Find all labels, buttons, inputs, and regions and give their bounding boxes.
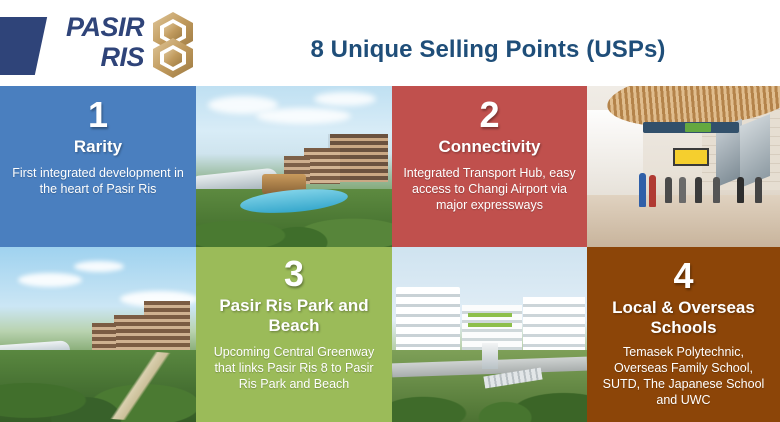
header-accent-shape — [0, 17, 47, 75]
usp-image-central-greenway — [0, 247, 196, 422]
usp-image-condo-aerial — [196, 86, 392, 247]
person-figure — [755, 177, 762, 203]
slide-page: PASIR RIS — [0, 0, 780, 422]
person-figure — [639, 173, 646, 207]
campus-kiosk — [482, 343, 498, 369]
usp-title: Local & Overseas Schools — [596, 298, 771, 338]
usp-card-2[interactable]: 2 Connectivity Integrated Transport Hub,… — [392, 86, 587, 247]
school-campus-photo — [392, 247, 587, 422]
cloud-shape — [74, 261, 124, 272]
person-figure — [737, 177, 744, 203]
usp-grid: 1 Rarity First integrated development in… — [0, 86, 780, 422]
campus-building — [523, 297, 585, 353]
person-figure — [665, 177, 672, 203]
usp-card-1[interactable]: 1 Rarity First integrated development in… — [0, 86, 196, 247]
person-figure — [713, 177, 720, 203]
person-figure — [649, 175, 656, 207]
transport-hub-interior-render — [587, 86, 780, 247]
usp-title: Pasir Ris Park and Beach — [205, 296, 383, 336]
usp-number: 2 — [479, 96, 499, 134]
advertising-panel — [673, 148, 709, 166]
usp-number: 1 — [88, 96, 108, 134]
usp-description: Integrated Transport Hub, easy access to… — [401, 165, 578, 213]
usp-card-4[interactable]: 4 Local & Overseas Schools Temasek Polyt… — [587, 247, 780, 422]
usp-image-school-campus — [392, 247, 587, 422]
usp-description: Upcoming Central Greenway that links Pas… — [205, 344, 383, 392]
residential-block — [114, 315, 146, 353]
logo-line-ris: RIS — [44, 42, 144, 72]
pasir-ris-8-logo-mark-icon — [149, 10, 197, 80]
central-greenway-aerial-render — [0, 247, 196, 422]
residential-block — [144, 301, 190, 351]
page-title: 8 Unique Selling Points (USPs) — [196, 0, 780, 86]
usp-description: Temasek Polytechnic, Overseas Family Sch… — [596, 344, 771, 408]
logo-line-pasir: PASIR — [44, 12, 144, 42]
brand-logo[interactable]: PASIR RIS — [44, 8, 194, 78]
person-figure — [679, 177, 686, 203]
condo-aerial-pool-render — [196, 86, 392, 247]
usp-image-transport-hub — [587, 86, 780, 247]
greenway-path — [80, 347, 196, 422]
cloud-shape — [256, 108, 351, 124]
usp-description: First integrated development in the hear… — [9, 165, 187, 197]
cloud-shape — [314, 92, 376, 106]
campus-building — [396, 287, 460, 353]
wayfinding-sign-green-panel — [685, 123, 711, 132]
usp-number: 3 — [284, 255, 304, 293]
usp-title: Connectivity — [438, 137, 540, 157]
slide-header: PASIR RIS — [0, 0, 780, 86]
logo-wordmark: PASIR RIS — [44, 12, 144, 72]
person-figure — [695, 177, 702, 203]
cloud-shape — [18, 273, 82, 287]
usp-title: Rarity — [74, 137, 122, 157]
usp-card-3[interactable]: 3 Pasir Ris Park and Beach Upcoming Cent… — [196, 247, 392, 422]
usp-number: 4 — [673, 257, 693, 295]
green-facade-band — [468, 313, 512, 317]
